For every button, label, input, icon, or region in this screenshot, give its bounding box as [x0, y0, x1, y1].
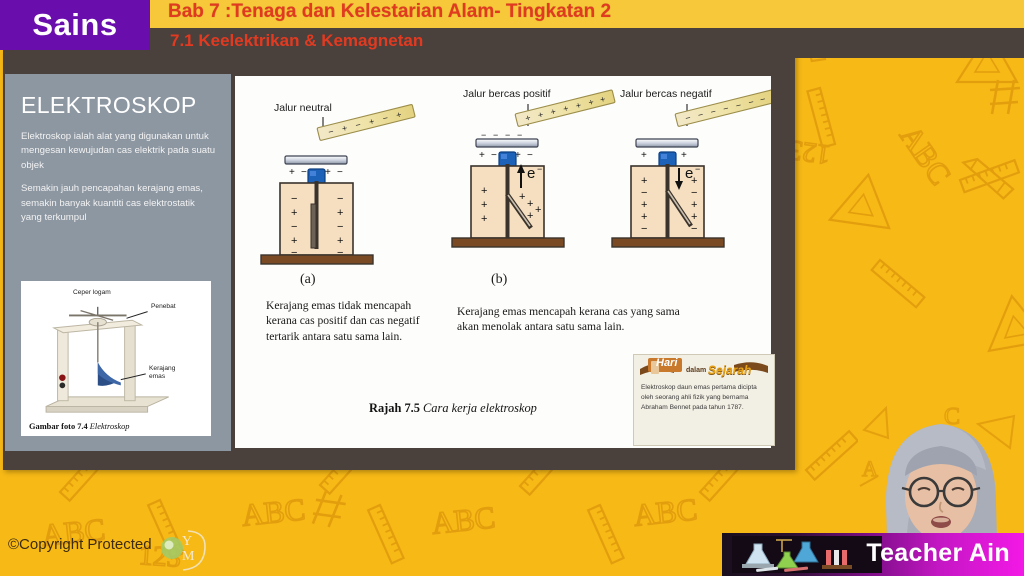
history-title-sejarah: Sejarah: [708, 363, 751, 377]
lab-equipment-icon: [732, 536, 882, 573]
svg-text:−: −: [641, 223, 647, 235]
svg-text:+: +: [691, 199, 697, 211]
svg-text:−: −: [537, 164, 542, 174]
svg-text:+: +: [325, 167, 331, 178]
svg-text:+: +: [481, 185, 487, 197]
photo-label-penebat: Penebat: [151, 303, 176, 310]
panel-heading: ELEKTROSKOP: [21, 92, 217, 119]
svg-text:−: −: [337, 193, 343, 205]
svg-text:+: +: [641, 175, 647, 187]
svg-text:+: +: [535, 204, 541, 216]
photo-caption-italic: Elektroskop: [90, 422, 130, 431]
history-title-dalam: dalam: [686, 367, 706, 374]
svg-text:−: −: [337, 167, 343, 178]
photo-caption: Gambar foto 7.4 Elektroskop: [29, 422, 130, 431]
svg-text:+: +: [337, 207, 343, 219]
sub-label-b: (b): [491, 272, 507, 288]
svg-text:Y: Y: [182, 534, 192, 549]
svg-text:+: +: [641, 199, 647, 211]
svg-text:−: −: [301, 167, 307, 178]
svg-text:−: −: [337, 221, 343, 233]
history-title-hari: Hari: [656, 357, 677, 369]
presentation-slide: ELEKTROSKOP Elektroskop ialah alat yang …: [3, 50, 795, 470]
svg-text:−: −: [291, 221, 297, 233]
svg-text:+: +: [527, 198, 533, 210]
svg-text:−: −: [691, 223, 697, 235]
svg-text:e: e: [527, 165, 535, 182]
photo-label-ceper-logam: Ceper logam: [73, 289, 111, 296]
copyright-notice: ©Copyright Protected: [8, 536, 152, 553]
figure-caption-number: Rajah 7.5: [369, 401, 423, 415]
svg-text:M: M: [182, 549, 195, 564]
electroscope-photo-card: Ceper logam Penebat Kerajang emas Gambar…: [21, 281, 211, 436]
svg-text:+: +: [519, 191, 525, 203]
subject-badge: Sains: [0, 0, 150, 50]
svg-text:+: +: [291, 207, 297, 219]
svg-text:+: +: [289, 167, 295, 178]
svg-text:+: +: [681, 150, 687, 161]
svg-text:−: −: [491, 150, 497, 161]
topic-subtitle: 7.1 Keelektrikan & Kemagnetan: [170, 31, 423, 51]
teacher-name-label: Teacher Ain: [866, 539, 1010, 568]
svg-text:+: +: [479, 150, 485, 161]
caption-b: Kerajang emas mencapah kerana cas yang s…: [457, 304, 702, 335]
svg-text:+: +: [691, 175, 697, 187]
history-callout-box: Hari dalam Sejarah Elektroskop daun emas…: [633, 354, 775, 446]
svg-text:+: +: [481, 199, 487, 211]
figure-caption: Rajah 7.5 Cara kerja elektroskop: [369, 401, 537, 416]
content-board: Jalur neutral Jalur bercas positif Jalur…: [235, 76, 771, 448]
watermark-logo: Y M: [158, 528, 208, 572]
svg-text:+: +: [527, 210, 533, 222]
panel-paragraph-2: Semakin jauh pencapahan kerajang emas, s…: [21, 182, 217, 225]
panel-paragraph-1: Elektroskop ialah alat yang digunakan un…: [21, 130, 217, 173]
presenter-name-bar: Teacher Ain: [722, 533, 1024, 576]
left-info-panel: ELEKTROSKOP Elektroskop ialah alat yang …: [5, 74, 231, 451]
photo-caption-bold: Gambar foto 7.4: [29, 422, 90, 431]
chapter-title: Bab 7 :Tenaga dan Kelestarian Alam- Ting…: [168, 1, 611, 23]
sub-label-a: (a): [300, 272, 316, 288]
svg-text:−: −: [291, 193, 297, 205]
svg-text:−: −: [641, 187, 647, 199]
photo-label-kerajang-emas: Kerajang emas: [149, 365, 193, 381]
svg-text:+: +: [691, 211, 697, 223]
svg-text:−: −: [691, 187, 697, 199]
caption-a: Kerajang emas tidak mencapah kerana cas …: [266, 298, 431, 344]
svg-text:A: A: [862, 456, 878, 481]
svg-text:+: +: [481, 213, 487, 225]
figure-caption-text: Cara kerja elektroskop: [423, 401, 537, 415]
svg-text:+: +: [291, 235, 297, 247]
svg-text:−: −: [527, 150, 533, 161]
history-body-text: Elektroskop daun emas pertama dicipta ol…: [641, 383, 767, 414]
svg-text:−: −: [695, 164, 700, 174]
svg-text:+: +: [641, 150, 647, 161]
svg-text:+: +: [337, 235, 343, 247]
svg-text:+: +: [641, 211, 647, 223]
